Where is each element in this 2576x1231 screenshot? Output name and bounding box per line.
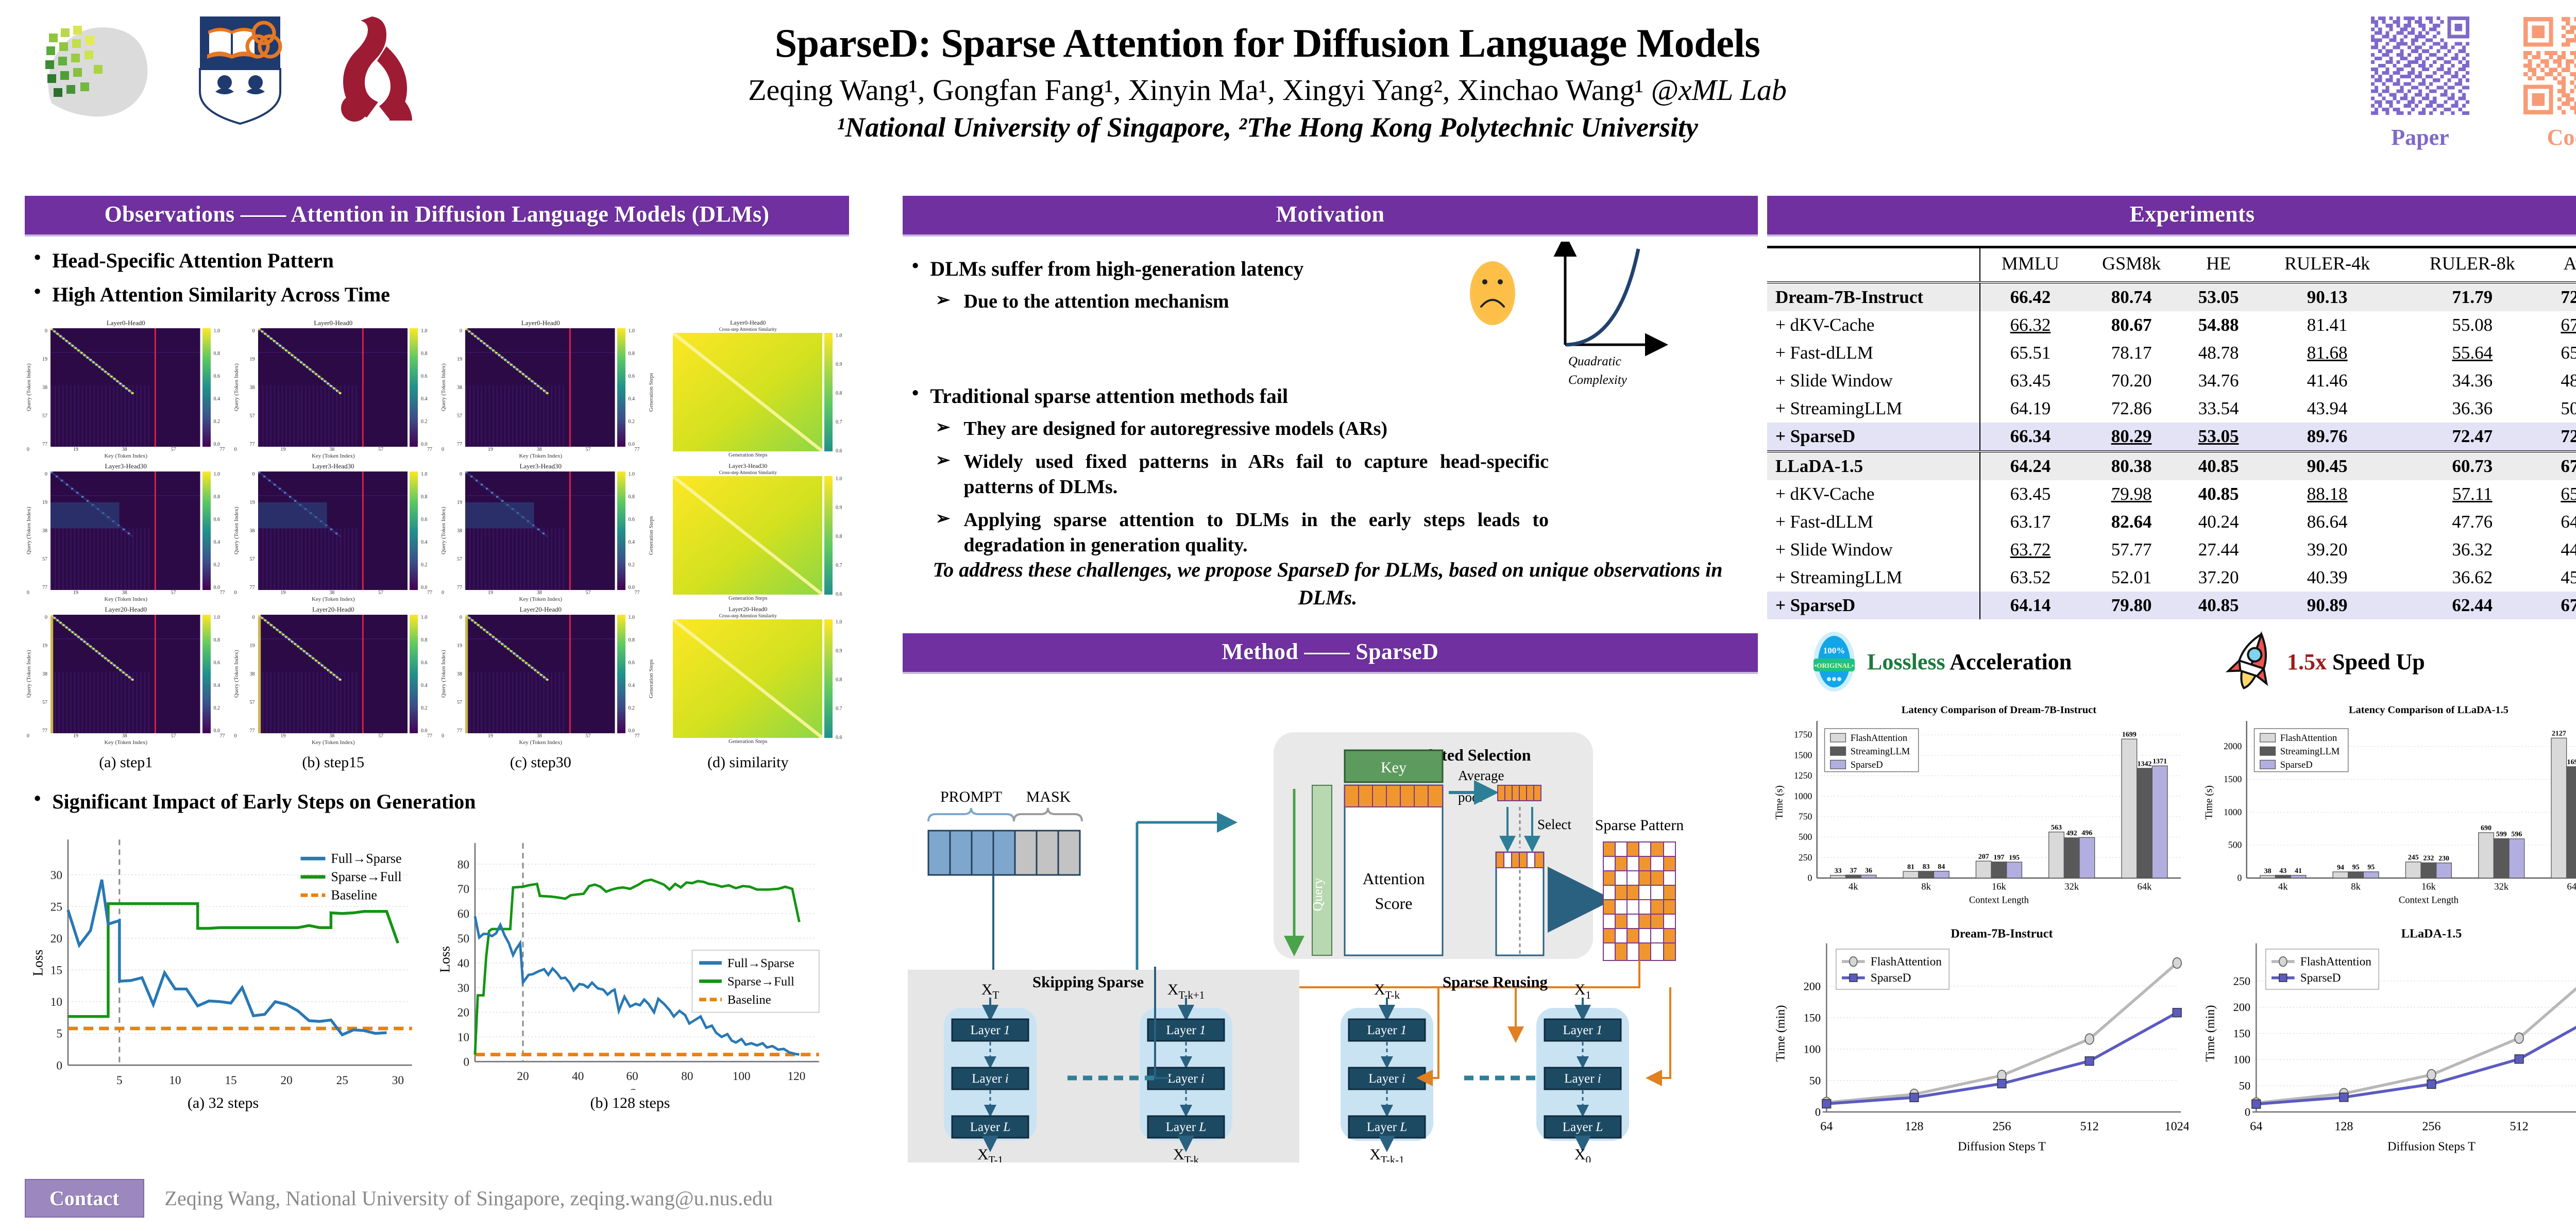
heatmap-colorbar-ticks: 1.00.80.60.40.20.0	[628, 328, 642, 447]
table-cell: 40.39	[2255, 564, 2400, 592]
x-tick-label: 256	[1992, 1119, 2011, 1133]
observation-bullet-3-text: Significant Impact of Early Steps on Gen…	[52, 789, 476, 815]
bar-value-label: 690	[2481, 824, 2492, 832]
heatmap-title: Layer0-Head0	[439, 319, 642, 327]
y-axis-label: Time (min)	[1773, 1005, 1787, 1062]
svg-text:Full→Sparse: Full→Sparse	[331, 851, 401, 866]
heatmap-yticks: 019385777	[35, 328, 48, 447]
svg-text:120: 120	[788, 1070, 806, 1083]
contact-text: Zeqing Wang, National University of Sing…	[165, 1186, 773, 1210]
data-point	[2340, 1093, 2348, 1102]
table-row: LLaDA-1.564.2480.3840.8590.4560.7367.33	[1767, 451, 2576, 480]
heatmap-xlabel: Key (Token Index)	[25, 739, 227, 746]
y-tick-label: 50	[2239, 1080, 2250, 1092]
attention-heatmap-grid: Layer0-Head0Query (Token Index)019385777…	[25, 319, 849, 746]
bar-value-label: 37	[1850, 867, 1857, 874]
heatmap-xlabel: Key (Token Index)	[232, 453, 435, 459]
table-row-label: + Fast-dLLM	[1767, 508, 1980, 536]
heatmap-colorbar-ticks: 1.00.80.60.40.20.0	[628, 471, 642, 590]
heatmap-title: Layer0-Head0Cross-step Attention Similar…	[647, 319, 850, 332]
table-row: + StreamingLLM64.1972.8633.5443.9436.365…	[1767, 395, 2576, 423]
table-cell: 80.38	[2080, 451, 2182, 480]
heatmap-ylabel: Query (Token Index)	[25, 471, 33, 590]
heatmap-cell: Layer0-Head0Query (Token Index)019385777…	[439, 319, 642, 459]
x-axis-label: Diffusion Steps T	[1958, 1139, 2046, 1153]
table-cell: 57.11	[2400, 480, 2545, 508]
steps-line-chart-row: Dream-7B-Instruct050100150200Time (min)D…	[1767, 920, 2576, 1162]
table-row-label: + Slide Window	[1767, 367, 1980, 395]
legend-label: SparseD	[2300, 971, 2341, 985]
query-label: Query	[1310, 878, 1325, 912]
th-gsm8k: GSM8k	[2080, 247, 2182, 283]
layer-box-label: Layer L	[1166, 1120, 1206, 1134]
y-axis-label: Time (s)	[2204, 785, 2215, 819]
steps-chart-dream: Dream-7B-Instruct050100150200Time (min)D…	[1767, 920, 2189, 1162]
bar	[2479, 833, 2494, 878]
y-tick-label: 100	[1804, 1042, 1821, 1055]
bar	[2137, 768, 2153, 878]
observation-bullet-2-text: High Attention Similarity Across Time	[52, 282, 390, 308]
bar	[2421, 863, 2436, 878]
heatmap-xticks: 019385777	[439, 590, 642, 596]
x-tick-label: 4k	[2278, 881, 2288, 892]
heatmap-yticks: 019385777	[450, 328, 463, 447]
heatmap-ylabel: Query (Token Index)	[439, 471, 448, 590]
bar	[2567, 767, 2576, 878]
bar-value-label: 81	[1907, 863, 1914, 871]
table-cell: 64.14	[1980, 592, 2081, 619]
badge-speedup-text: 1.5x Speed Up	[2287, 649, 2425, 675]
svg-text:30: 30	[392, 1074, 404, 1087]
heatmap-yticks	[657, 476, 671, 595]
table-cell: 40.85	[2182, 592, 2255, 619]
heatmap-xlabel: Key (Token Index)	[439, 739, 642, 746]
observations-section-title: Observations —— Attention in Diffusion L…	[25, 196, 849, 237]
table-cell: 78.17	[2080, 339, 2182, 367]
step-output-label: X0	[1574, 1146, 1591, 1162]
badge-speedup: 1.5x Speed Up	[2195, 630, 2425, 694]
heatmap-xlabel: Generation Steps	[647, 738, 850, 745]
bullet-dot-icon: •	[34, 789, 41, 815]
table-cell: 64.09	[2545, 508, 2576, 536]
latency-chart-dream: Latency Comparison of Dream-7B-Instruct0…	[1767, 699, 2189, 923]
bar-value-label: 596	[2511, 831, 2522, 838]
table-cell: 34.36	[2400, 367, 2545, 395]
table-cell: 88.18	[2255, 480, 2400, 508]
table-cell: 72.38	[2545, 423, 2576, 451]
heatmap-colorbar-ticks: 1.00.80.60.40.20.0	[628, 615, 642, 733]
title-block: SparseD: Sparse Attention for Diffusion …	[608, 21, 1927, 143]
heatmap-ylabel: Query (Token Index)	[25, 328, 33, 447]
heatmap-xlabel: Key (Token Index)	[25, 453, 227, 459]
heatmap-caption-a: (a) step1	[25, 754, 227, 771]
table-cell: 71.79	[2400, 282, 2545, 311]
table-cell: 50.17	[2545, 395, 2576, 423]
observation-bullet-1: • Head-Specific Attention Pattern	[34, 248, 849, 274]
layer-box-label: Layer i	[1564, 1072, 1601, 1086]
heatmap-colorbar	[410, 328, 418, 447]
arrow-bullet-icon: ➢	[936, 416, 951, 442]
heatmap-colorbar	[617, 615, 625, 733]
step-output-label: XT-k-1	[1369, 1146, 1404, 1162]
y-tick-label: 0	[2245, 1105, 2250, 1118]
column-motivation-method: Motivation • DLMs suffer from high-gener…	[903, 196, 1758, 1162]
heatmap-image	[465, 328, 615, 447]
table-cell: 54.88	[2182, 311, 2255, 339]
svg-text:25: 25	[50, 900, 62, 914]
highlight-badges: 100% •ORIGINAL• Lossless Acceleration	[1767, 630, 2576, 694]
x-tick-label: 32k	[2494, 881, 2509, 892]
rocket-icon	[2226, 630, 2280, 694]
bar	[1934, 871, 1949, 878]
loss-chart-128-svg: 01020 304050 607080 204060 80100120 Loss…	[432, 822, 828, 1090]
motivation-item-5: ➢ Widely used fixed patterns in ARs fail…	[936, 449, 1549, 500]
qr-code-label: Code	[2517, 124, 2576, 150]
motivation-item-1-text: Due to the attention mechanism	[964, 289, 1229, 314]
y-tick-label: 0	[2238, 873, 2242, 883]
table-row: Dream-7B-Instruct66.4280.7453.0590.1371.…	[1767, 282, 2576, 311]
bar-value-label: 1371	[2153, 758, 2167, 766]
results-table-head: MMLU GSM8k HE RULER-4k RULER-8k Avg.	[1767, 247, 2576, 283]
heatmap-ylabel: Generation Steps	[647, 619, 655, 738]
bar	[1991, 862, 2007, 878]
bar	[2551, 738, 2567, 878]
x-tick-label: 512	[2510, 1119, 2528, 1133]
bar-value-label: 33	[1835, 867, 1842, 875]
loss-chart-32-caption: (a) 32 steps	[25, 1094, 421, 1112]
heatmap-colorbar	[617, 328, 625, 447]
table-cell: 90.45	[2255, 451, 2400, 480]
heatmap-colorbar	[824, 476, 833, 595]
motivation-item-3: • Traditional sparse attention methods f…	[912, 383, 1480, 409]
loss128-legend: Full→Sparse Sparse→Full Baseline	[692, 950, 819, 1012]
x-tick-label: 32k	[2064, 881, 2079, 892]
heatmap-colorbar-ticks: 1.00.80.60.40.20.0	[213, 615, 227, 733]
prompt-label: PROMPT	[940, 788, 1002, 805]
y-tick-label: 2000	[2224, 741, 2242, 751]
loss-chart-32-svg: 0510 15202530 51015 202530 Loss Steps Fu…	[25, 822, 421, 1090]
bar-value-label: 43	[2279, 867, 2286, 875]
bar-value-label: 84	[1938, 863, 1945, 871]
heatmap-title: Layer0-Head0	[25, 319, 227, 327]
table-cell: 48.84	[2545, 367, 2576, 395]
table-row: + Fast-dLLM63.1782.6440.2486.6447.7664.0…	[1767, 508, 2576, 536]
arrow-bullet-icon: ➢	[936, 508, 951, 559]
heatmap-image	[258, 328, 408, 447]
heatmap-colorbar-ticks: 1.00.90.80.70.6	[835, 619, 849, 738]
qr-code-paper-icon[interactable]	[2367, 13, 2473, 119]
x-tick-label: 64	[1820, 1119, 1833, 1133]
heatmap-image	[50, 615, 200, 733]
heatmap-caption-d: (d) similarity	[647, 754, 850, 771]
layer-box-label: Layer L	[1367, 1120, 1407, 1134]
heatmap-xlabel: Generation Steps	[647, 595, 850, 601]
table-cell: 81.41	[2255, 311, 2400, 339]
heatmap-image	[673, 619, 823, 738]
mask-label: MASK	[1026, 788, 1071, 805]
table-cell: 72.47	[2400, 423, 2545, 451]
table-cell: 67.67	[2545, 311, 2576, 339]
y-tick-label: 200	[1804, 980, 1821, 992]
layer-box-label: Layer 1	[970, 1023, 1010, 1037]
bar-value-label: 95	[2352, 864, 2360, 871]
table-row: + SparseD64.1479.8040.8590.8962.4467.62	[1767, 592, 2576, 619]
svg-text:10: 10	[50, 996, 62, 1009]
x-tick-label: 128	[1905, 1119, 1923, 1133]
svg-text:30: 30	[457, 982, 469, 995]
x-tick-label: 64	[2250, 1119, 2262, 1133]
legend-label: SparseD	[1871, 971, 1911, 985]
svg-text:60: 60	[457, 907, 469, 921]
qr-paper[interactable]: Paper	[2365, 13, 2476, 150]
bar	[2007, 862, 2022, 878]
table-row-label: + SparseD	[1767, 592, 1980, 619]
bar-value-label: 41	[2295, 867, 2302, 875]
bar	[1976, 861, 1991, 878]
arrow-bullet-icon: ➢	[936, 449, 951, 500]
heatmap-colorbar	[824, 333, 833, 451]
legend-label: FlashAttention	[2280, 733, 2337, 744]
table-cell: 57.77	[2080, 536, 2182, 564]
svg-text:30: 30	[50, 869, 62, 882]
heatmap-title: Layer20-Head0	[25, 605, 227, 614]
heatmap-xticks: 019385777	[439, 447, 642, 452]
layer-box-label: Layer 1	[1563, 1023, 1602, 1037]
table-cell: 63.45	[1980, 480, 2081, 508]
svg-text:Baseline: Baseline	[331, 888, 377, 903]
average-pool-line1: Average	[1458, 768, 1504, 783]
latency-chart-llada: Latency Comparison of LLaDA-1.5050010001…	[2197, 699, 2576, 923]
table-cell: 36.62	[2400, 564, 2545, 592]
th-ruler4k: RULER-4k	[2255, 247, 2400, 283]
x-axis-label: Context Length	[2399, 895, 2459, 905]
poster-root: SparseD: Sparse Attention for Diffusion …	[0, 0, 2576, 1231]
table-cell: 67.62	[2545, 592, 2576, 619]
data-point	[2515, 1033, 2523, 1043]
heatmap-caption-b: (b) step15	[232, 754, 435, 771]
bullet-dot-icon: •	[912, 256, 919, 282]
y-tick-label: 1000	[1794, 791, 1812, 801]
svg-text:Full→Sparse: Full→Sparse	[727, 956, 794, 970]
heatmap-yticks: 019385777	[243, 328, 256, 447]
table-row-label: + dKV-Cache	[1767, 311, 1980, 339]
bar-value-label: 1342	[2138, 760, 2152, 768]
motivation-section-title: Motivation	[903, 196, 1758, 237]
badge-lossless-text: Lossless Acceleration	[1867, 649, 2072, 675]
layer-box-label: Layer i	[972, 1072, 1009, 1086]
svg-text:100: 100	[733, 1070, 751, 1083]
motivation-item-5-text: Widely used fixed patterns in ARs fail t…	[964, 449, 1549, 500]
y-tick-label: 200	[2233, 1001, 2250, 1014]
table-row-label: LLaDA-1.5	[1767, 451, 1980, 480]
table-cell: 72.42	[2545, 282, 2576, 311]
line-series	[2256, 1010, 2576, 1104]
y-tick-label: 1500	[2224, 774, 2242, 784]
table-cell: 66.42	[1980, 282, 2081, 311]
observation-bullet-3: • Significant Impact of Early Steps on G…	[34, 789, 849, 815]
bar-value-label: 245	[2408, 854, 2419, 862]
university-crest-icon	[189, 10, 292, 129]
table-cell: 53.05	[2182, 423, 2255, 451]
svg-text:100%: 100%	[1823, 646, 1845, 655]
motivation-list: • DLMs suffer from high-generation laten…	[903, 248, 1480, 558]
layer-box-label: Layer i	[1368, 1072, 1405, 1086]
legend-swatch	[1831, 747, 1846, 755]
y-tick-label: 150	[1804, 1011, 1821, 1024]
heatmap-caption-c: (c) step30	[439, 754, 642, 771]
results-table-body: Dream-7B-Instruct66.4280.7453.0590.1371.…	[1767, 282, 2576, 619]
table-cell: 47.76	[2400, 508, 2545, 536]
heatmap-xticks: 019385777	[232, 590, 435, 596]
heatmap-ylabel: Query (Token Index)	[232, 328, 241, 447]
bar-value-label: 230	[2438, 855, 2449, 863]
bar-value-label: 197	[1993, 854, 2004, 862]
table-cell: 64.24	[1980, 451, 2081, 480]
y-tick-label: 0	[1808, 873, 1812, 883]
svg-text:40: 40	[457, 957, 469, 970]
table-cell: 70.20	[2080, 367, 2182, 395]
th-blank	[1767, 247, 1980, 283]
motivation-item-6: ➢ Applying sparse attention to DLMs in t…	[936, 508, 1549, 559]
data-point	[2515, 1055, 2523, 1064]
table-cell: 81.68	[2255, 339, 2400, 367]
table-cell: 33.54	[2182, 395, 2255, 423]
heatmap-cell: Layer20-Head0Query (Token Index)01938577…	[25, 605, 227, 746]
bar-value-label: 232	[2423, 855, 2434, 863]
motivation-spacer	[903, 314, 1480, 375]
heatmap-yticks: 019385777	[243, 471, 256, 590]
bullet-dot-icon: •	[912, 383, 919, 409]
observation-bullet-1-text: Head-Specific Attention Pattern	[52, 248, 334, 274]
th-he: HE	[2182, 247, 2255, 283]
chart-title: Latency Comparison of Dream-7B-Instruct	[1902, 704, 2096, 716]
heatmap-cell: Layer3-Head30Query (Token Index)01938577…	[25, 462, 227, 602]
heatmap-ylabel: Query (Token Index)	[25, 615, 33, 733]
x-tick-label: 1024	[2165, 1119, 2189, 1133]
y-tick-label: 500	[1799, 832, 1812, 842]
y-tick-label: 1000	[2224, 807, 2242, 817]
sparse-pattern-label: Sparse Pattern	[1595, 817, 1684, 834]
legend-swatch	[2260, 747, 2276, 755]
bar	[2436, 863, 2452, 878]
table-row: + dKV-Cache63.4579.9840.8588.1857.1165.9…	[1767, 480, 2576, 508]
authors-names: Zeqing Wang¹, Gongfan Fang¹, Xinyin Ma¹,…	[748, 73, 1651, 107]
heatmap-xlabel: Key (Token Index)	[439, 596, 642, 602]
badge-lossless: 100% •ORIGINAL• Lossless Acceleration	[1767, 630, 2195, 694]
bar	[2152, 766, 2167, 878]
layer-box-label: Layer 1	[1367, 1023, 1406, 1037]
y-tick-label: 100	[2233, 1053, 2250, 1066]
sad-face-icon	[1464, 257, 1521, 329]
motivation-item-4-text: They are designed for autoregressive mod…	[964, 416, 1388, 442]
data-point	[2173, 958, 2181, 968]
heatmap-colorbar-ticks: 1.00.80.60.40.20.0	[420, 471, 434, 590]
qr-code-repo-icon[interactable]	[2519, 13, 2576, 119]
loss-chart-row: 0510 15202530 51015 202530 Loss Steps Fu…	[25, 822, 849, 1112]
data-point	[1997, 1080, 2006, 1088]
table-row-label: + StreamingLLM	[1767, 395, 1980, 423]
table-cell: 63.45	[1980, 367, 2081, 395]
table-cell: 55.64	[2400, 339, 2545, 367]
table-cell: 36.32	[2400, 536, 2545, 564]
heatmap-colorbar	[824, 619, 833, 738]
motivation-item-6-text: Applying sparse attention to DLMs in the…	[964, 508, 1549, 559]
data-point	[2427, 1070, 2436, 1080]
table-cell: 86.64	[2255, 508, 2400, 536]
heatmap-colorbar-ticks: 1.00.90.80.70.6	[835, 333, 849, 451]
heatmap-colorbar-ticks: 1.00.80.60.40.20.0	[420, 328, 434, 447]
bar-value-label: 38	[2264, 867, 2272, 875]
legend-label: FlashAttention	[1871, 955, 1942, 968]
affiliations: ¹National University of Singapore, ²The …	[608, 111, 1927, 143]
svg-text:Steps: Steps	[222, 1087, 252, 1090]
y-tick-label: 750	[1799, 811, 1812, 821]
method-diagram: Isolated Selection Key Query Attention S…	[903, 678, 1758, 1162]
table-cell: 60.73	[2400, 451, 2545, 480]
svg-text:60: 60	[626, 1070, 638, 1083]
quadratic-label-2: Complexity	[1568, 373, 1628, 387]
table-cell: 63.52	[1980, 564, 2081, 592]
heatmap-colorbar	[202, 328, 211, 447]
svg-text:10: 10	[169, 1074, 181, 1087]
legend-swatch	[2260, 733, 2276, 742]
legend-label: FlashAttention	[1851, 733, 1908, 744]
svg-text:Steps: Steps	[629, 1086, 659, 1090]
experiments-section-title: Experiments	[1767, 196, 2576, 237]
table-cell: 79.98	[2080, 480, 2182, 508]
bar	[1845, 875, 1861, 878]
x-tick-label: 8k	[2351, 881, 2361, 892]
x-tick-label: 8k	[1921, 881, 1931, 892]
svg-text:40: 40	[572, 1070, 584, 1083]
column-observations: Observations —— Attention in Diffusion L…	[25, 196, 849, 1112]
heatmap-xticks: 019385777	[439, 733, 642, 739]
quadratic-complexity-icon: Quadratic Complexity	[1552, 242, 1670, 417]
heatmap-image	[258, 471, 408, 590]
bar	[2363, 872, 2379, 878]
heatmap-title: Layer20-Head0	[232, 605, 435, 614]
qr-code[interactable]: Code	[2517, 13, 2576, 150]
lab-name: @xML Lab	[1651, 73, 1787, 107]
svg-text:15: 15	[50, 964, 62, 977]
heatmap-yticks	[657, 619, 671, 738]
heatmap-ylabel: Generation Steps	[647, 476, 655, 595]
heatmap-cell: Layer20-Head0Query (Token Index)01938577…	[439, 605, 642, 746]
y-tick-label: 1500	[1794, 750, 1812, 760]
bar	[2333, 872, 2348, 878]
heatmap-yticks: 019385777	[35, 471, 48, 590]
y-tick-label: 1750	[1794, 730, 1812, 740]
legend-swatch	[1831, 760, 1846, 769]
layer-box-label: Layer L	[970, 1120, 1010, 1134]
svg-text:20: 20	[457, 1006, 469, 1020]
data-point	[1910, 1093, 1919, 1102]
bar	[1903, 871, 1919, 878]
heatmap-title: Layer3-Head30	[439, 462, 642, 470]
table-cell: 80.29	[2080, 423, 2182, 451]
heatmap-image	[673, 476, 823, 595]
layer-box-label: Layer 1	[1166, 1023, 1206, 1037]
x-tick-label: 128	[2334, 1119, 2353, 1133]
nus-logo-icon	[31, 10, 170, 129]
y-tick-label: 1250	[1794, 770, 1812, 781]
th-mmlu: MMLU	[1980, 247, 2081, 283]
heatmap-xlabel: Key (Token Index)	[232, 596, 435, 602]
legend-label: StreamingLLM	[2280, 746, 2340, 757]
bullet-dot-icon: •	[34, 248, 41, 274]
heatmap-ylabel: Generation Steps	[647, 333, 655, 451]
heatmap-title: Layer20-Head0	[439, 605, 642, 614]
